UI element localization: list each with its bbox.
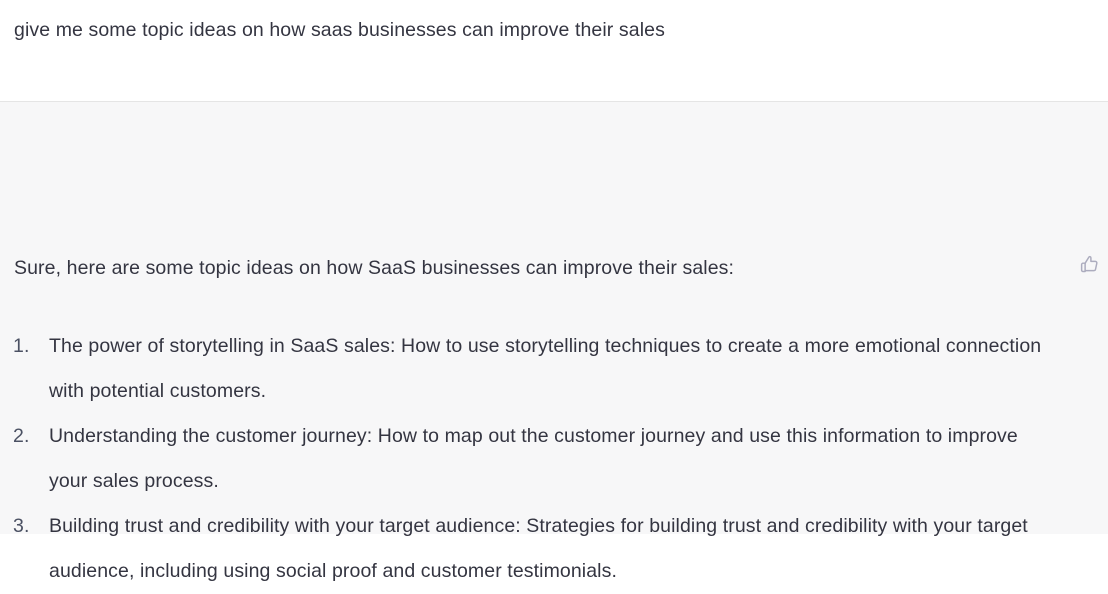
list-item-text: Understanding the customer journey: How … [49, 414, 1059, 504]
list-item-marker: 1. [13, 324, 41, 369]
list-item: 3. Building trust and credibility with y… [0, 504, 1078, 594]
list-item-text: The power of storytelling in SaaS sales:… [49, 324, 1059, 414]
user-message-turn: give me some topic ideas on how saas bus… [0, 0, 1108, 102]
list-item-marker: 3. [13, 504, 41, 549]
assistant-intro-text: Sure, here are some topic ideas on how S… [14, 254, 734, 282]
list-item-text: Building trust and credibility with your… [49, 504, 1059, 594]
user-message-text: give me some topic ideas on how saas bus… [14, 16, 665, 44]
thumbs-up-button[interactable] [1078, 253, 1100, 275]
assistant-message-turn: Sure, here are some topic ideas on how S… [0, 102, 1108, 534]
thumbs-up-icon[interactable] [1079, 254, 1100, 275]
topic-ideas-list: 1. The power of storytelling in SaaS sal… [0, 324, 1078, 594]
list-item: 1. The power of storytelling in SaaS sal… [0, 324, 1078, 414]
list-item-marker: 2. [13, 414, 41, 459]
list-item: 2. Understanding the customer journey: H… [0, 414, 1078, 504]
chat-conversation: give me some topic ideas on how saas bus… [0, 0, 1108, 534]
